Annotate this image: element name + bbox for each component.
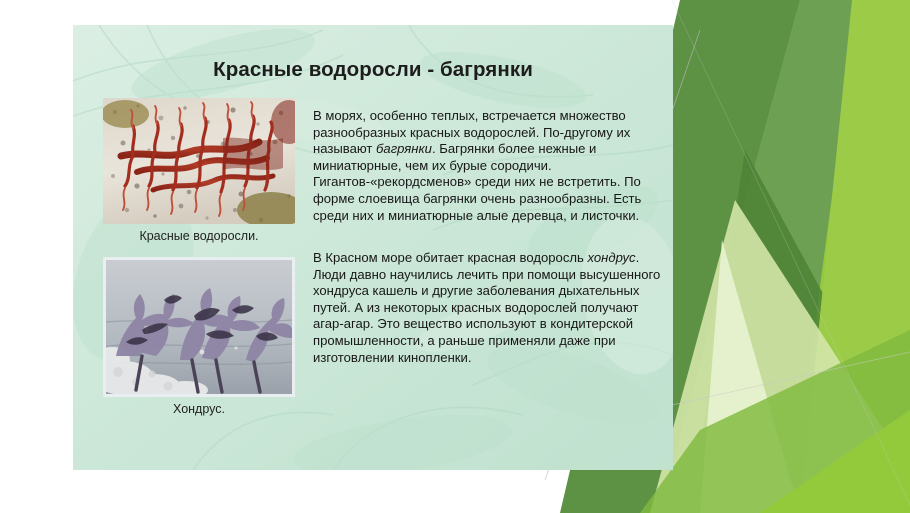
photo-red-algae: Красная водоросль с разветвлённым слоеви…	[103, 98, 295, 224]
para-1-run-1: багрянки	[376, 141, 432, 156]
figure-red-algae: Красная водоросль с разветвлённым слоеви…	[103, 98, 295, 243]
facet-shape-very-pale	[700, 240, 800, 513]
facet-shape-dark-wedge-2	[660, 0, 858, 513]
photo-chondrus: Хондрус — пурпурно-серая водоросль с пло…	[103, 257, 295, 397]
facet-shape-lower-green-2	[760, 410, 910, 513]
facet-shape-bright-right	[800, 0, 910, 513]
figure-caption-red-algae: Красные водоросли.	[103, 229, 295, 243]
para-2-run-1: хондрус	[587, 250, 635, 265]
facet-shape-lower-green	[640, 330, 910, 513]
facet-shape-pale-wedge	[650, 200, 910, 513]
facet-shape-lime-base	[705, 0, 910, 513]
body-paragraph-1: В морях, особенно теплых, встречается мн…	[313, 108, 661, 224]
figure-chondrus: Хондрус — пурпурно-серая водоросль с пло…	[103, 257, 295, 416]
para-2-run-2: . Люди давно научились лечить при помощи…	[313, 250, 660, 365]
presentation-slide: Красные водоросли - багрянки Красная вод…	[0, 0, 910, 513]
facet-hairline-3	[672, 0, 910, 505]
body-paragraph-2: В Красном море обитает красная водоросль…	[313, 250, 661, 366]
para-2-run-0: В Красном море обитает красная водоросль	[313, 250, 587, 265]
page-title: Красные водоросли - багрянки	[73, 58, 673, 82]
facet-shape-deep-overlap	[690, 150, 870, 513]
content-panel: Красные водоросли - багрянки Красная вод…	[73, 25, 673, 470]
figure-caption-chondrus: Хондрус.	[103, 402, 295, 416]
